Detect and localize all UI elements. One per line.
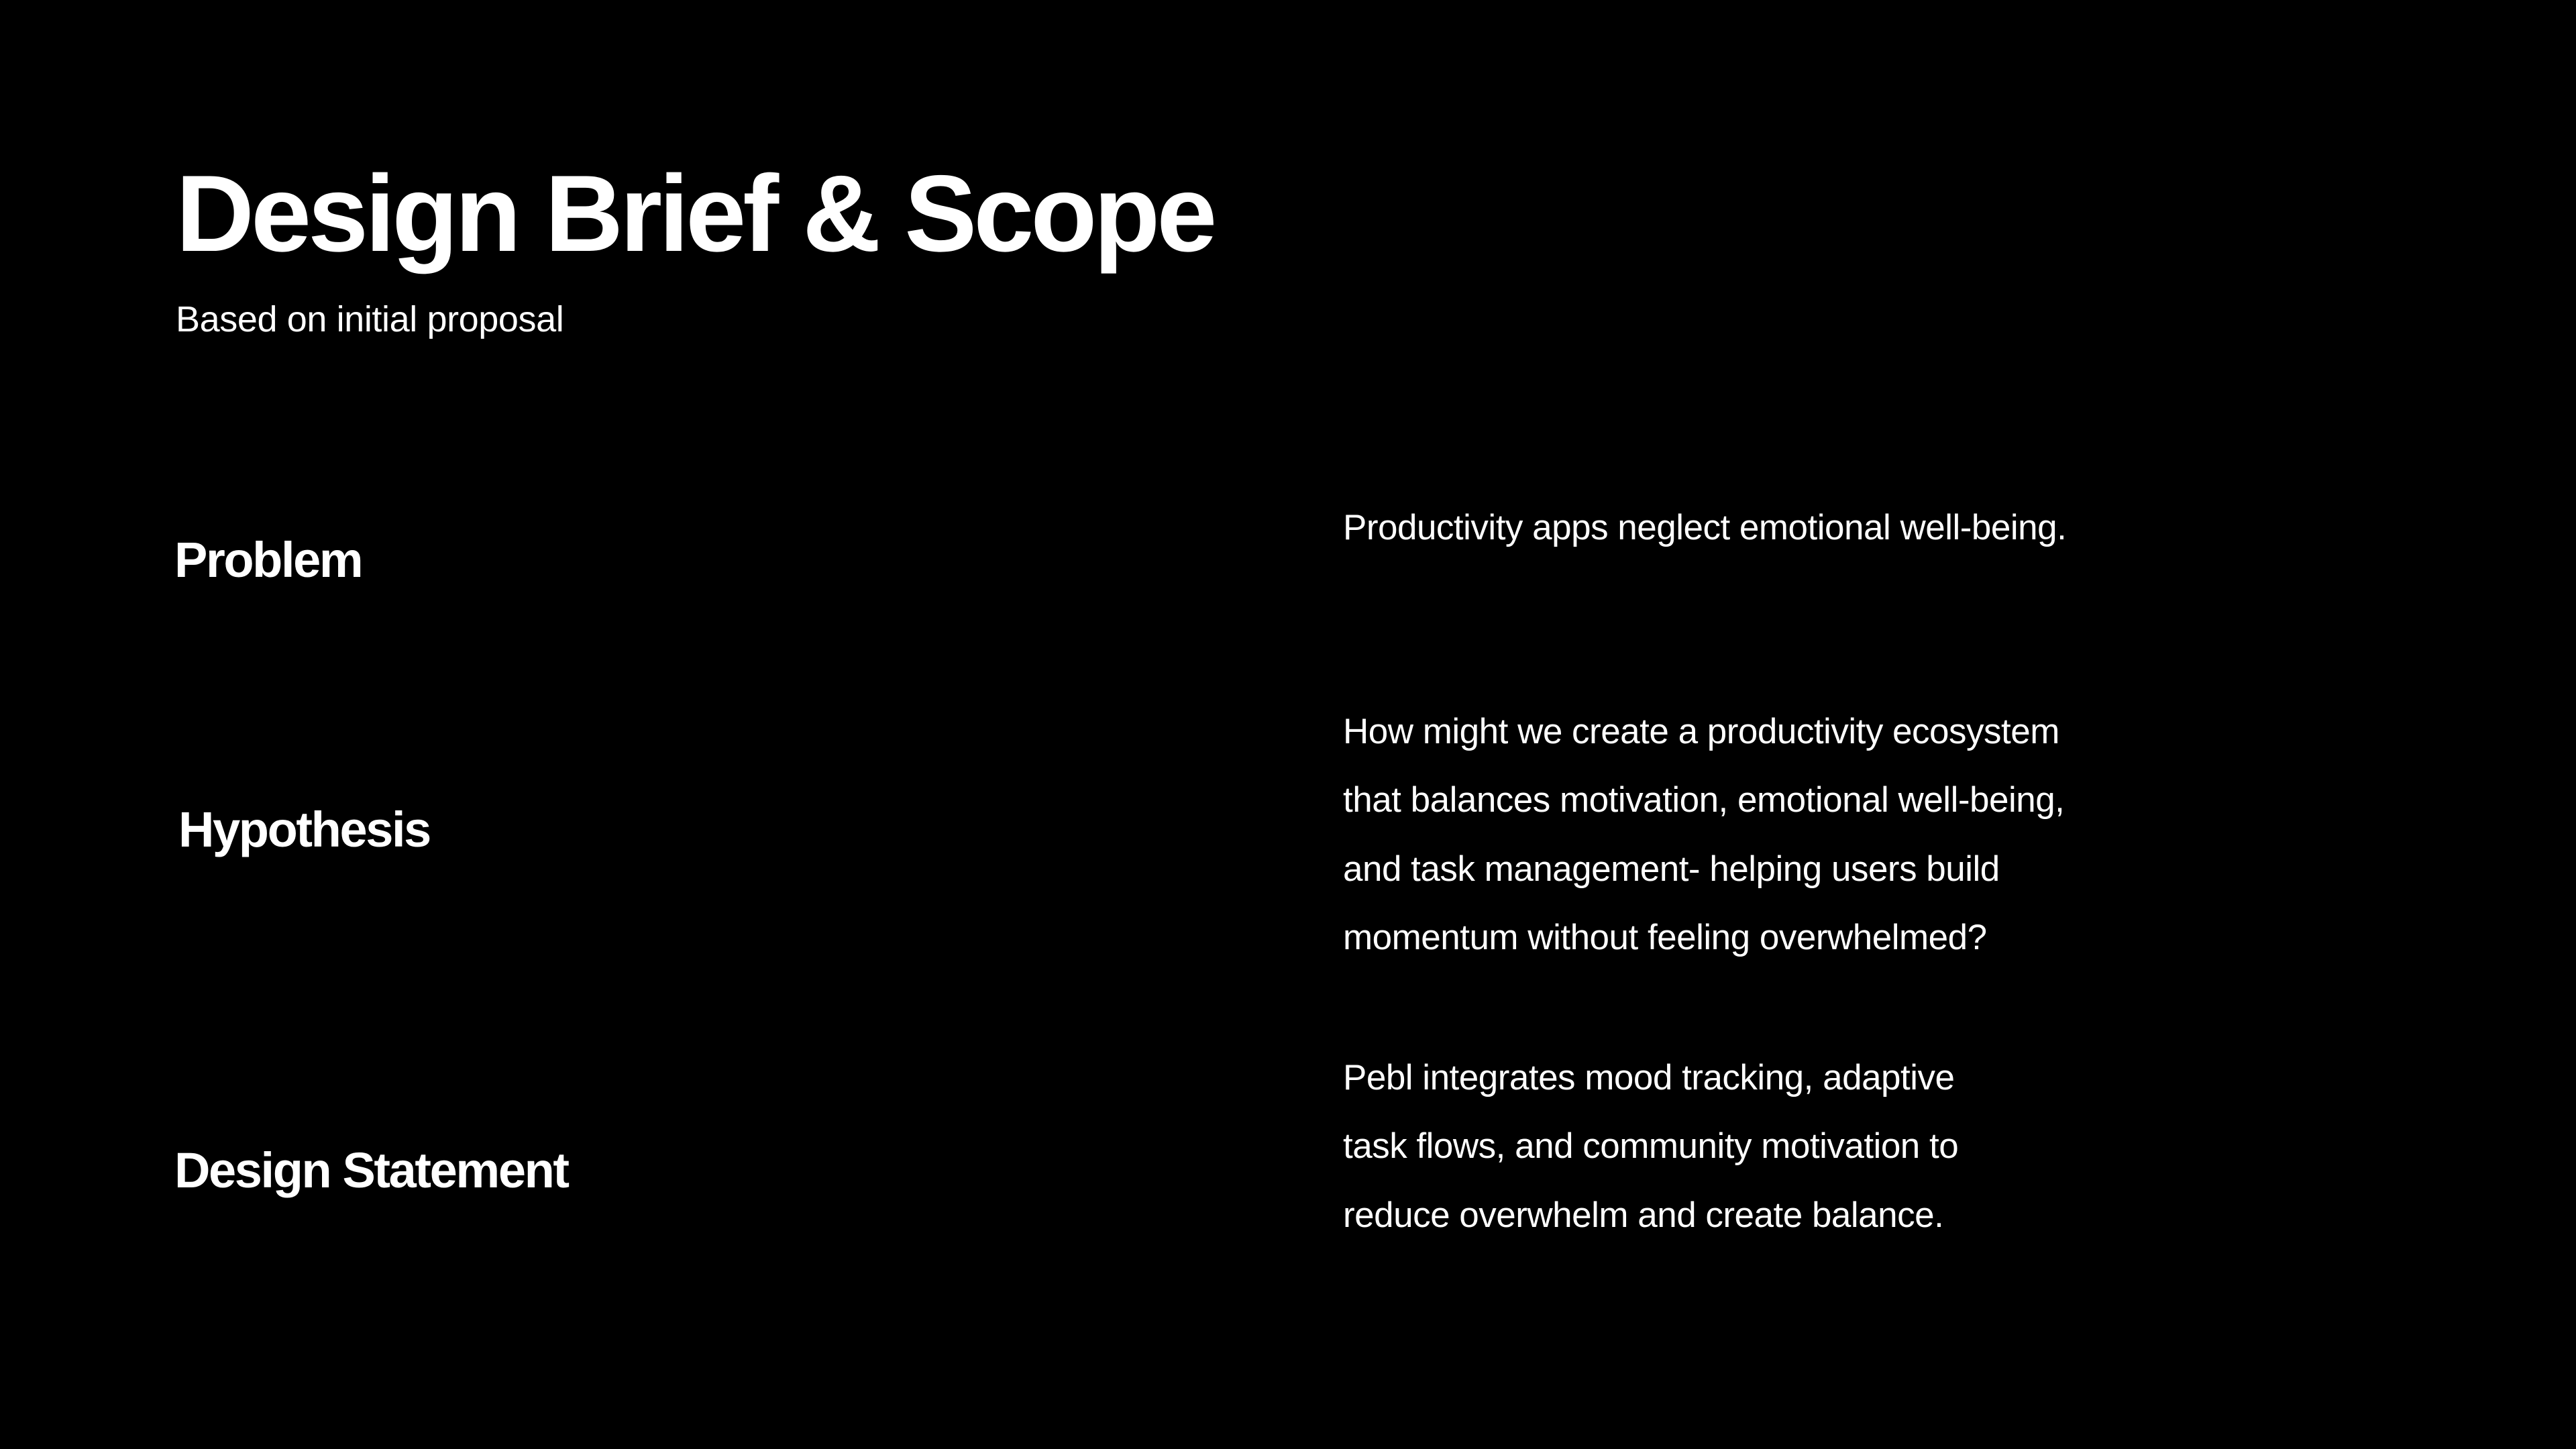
text-line: task flows, and community motivation to: [1343, 1112, 2443, 1181]
brief-text-design-statement: Pebl integrates mood tracking, adaptive …: [1343, 1044, 2443, 1250]
page-title: Design Brief & Scope: [176, 158, 2390, 269]
text-line: momentum without feeling overwhelmed?: [1343, 904, 2443, 972]
brief-label-design-statement: Design Statement: [174, 1146, 568, 1195]
slide-header: Design Brief & Scope Based on initial pr…: [176, 158, 2390, 340]
presentation-slide: Design Brief & Scope Based on initial pr…: [0, 0, 2576, 1449]
brief-label-problem: Problem: [174, 535, 362, 585]
text-line: and task management- helping users build: [1343, 835, 2443, 904]
text-line: Productivity apps neglect emotional well…: [1343, 510, 2443, 545]
slide-subtitle: Based on initial proposal: [176, 269, 2390, 339]
brief-text-problem: Productivity apps neglect emotional well…: [1343, 510, 2443, 545]
text-line: How might we create a productivity ecosy…: [1343, 698, 2443, 766]
text-line: Pebl integrates mood tracking, adaptive: [1343, 1044, 2443, 1112]
text-line: that balances motivation, emotional well…: [1343, 766, 2443, 835]
text-line: reduce overwhelm and create balance.: [1343, 1181, 2443, 1250]
brief-label-hypothesis: Hypothesis: [178, 805, 430, 855]
brief-text-hypothesis: How might we create a productivity ecosy…: [1343, 698, 2443, 972]
